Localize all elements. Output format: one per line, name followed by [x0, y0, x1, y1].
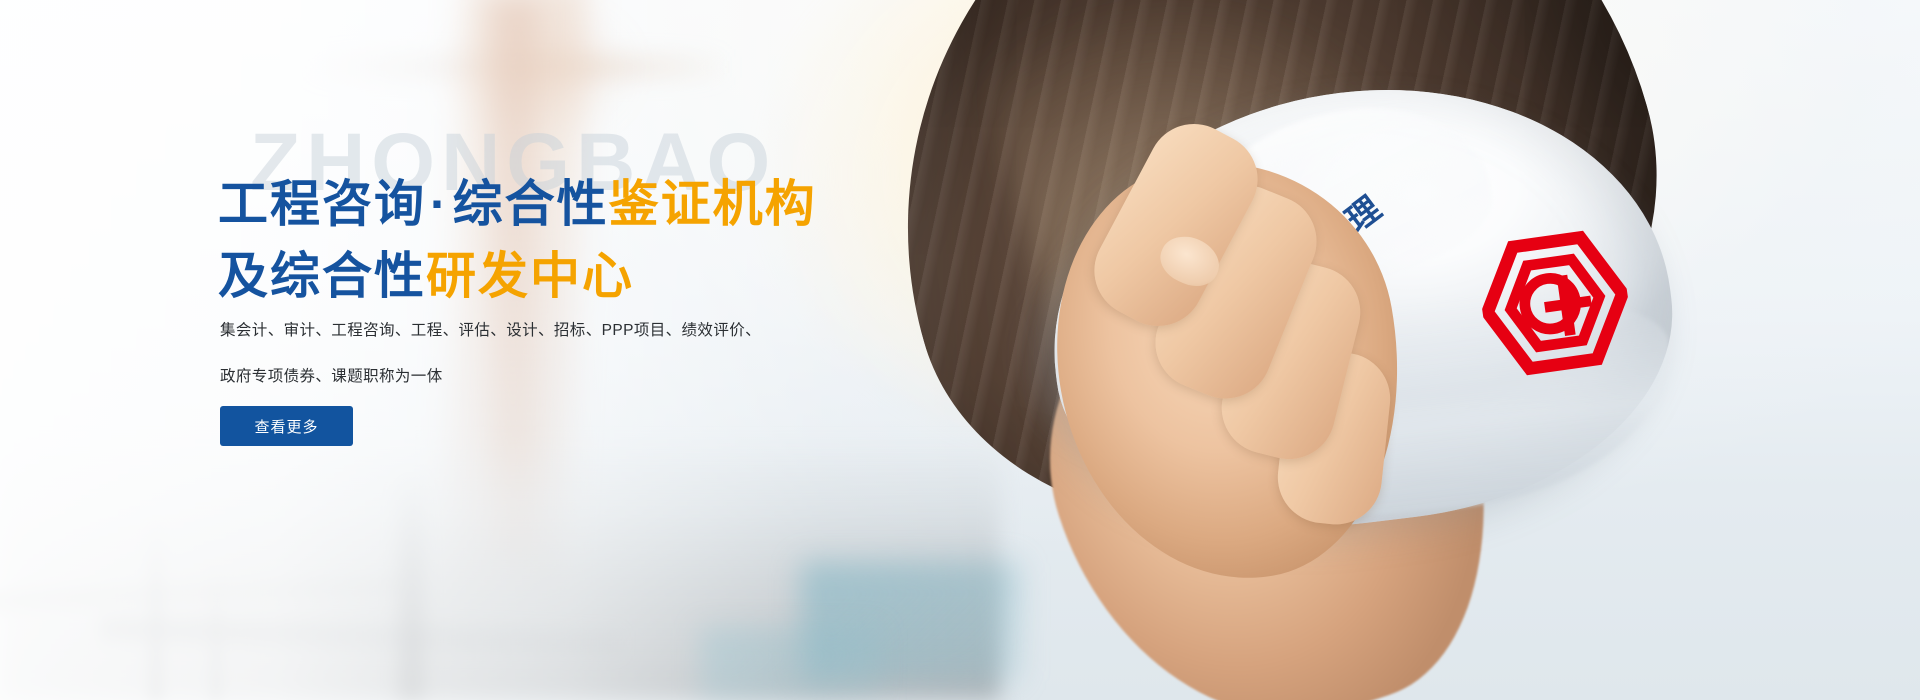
hero-banner: 中宝工程管理 ZHONGBAO: [0, 0, 1920, 700]
description-line-2: 政府专项债券、课题职称为一体: [220, 354, 820, 400]
zhongbao-hexagon-logo-icon: [1472, 219, 1637, 388]
headline-line1-part2: 综合性: [453, 176, 609, 232]
headline-line2-part1: 及综合性: [218, 248, 426, 304]
description-line-1: 集会计、审计、工程咨询、工程、评估、设计、招标、PPP项目、绩效评价、: [220, 308, 820, 354]
hero-description: 集会计、审计、工程咨询、工程、评估、设计、招标、PPP项目、绩效评价、 政府专项…: [220, 308, 820, 400]
headline-line1-part1: 工程咨询: [218, 176, 426, 232]
headline-separator: ·: [426, 176, 453, 232]
headline-line2-part2: 研发中心: [426, 248, 634, 304]
hero-headline: 工程咨询·综合性鉴证机构 及综合性研发中心: [218, 168, 817, 312]
headline-line-1: 工程咨询·综合性鉴证机构: [218, 168, 817, 240]
headline-line1-part3: 鉴证机构: [609, 176, 817, 232]
view-more-button[interactable]: 查看更多: [220, 406, 353, 446]
headline-line-2: 及综合性研发中心: [218, 240, 817, 312]
hero-content: ZHONGBAO 工程咨询·综合性鉴证机构 及综合性研发中心 集会计、审计、工程…: [218, 0, 978, 700]
